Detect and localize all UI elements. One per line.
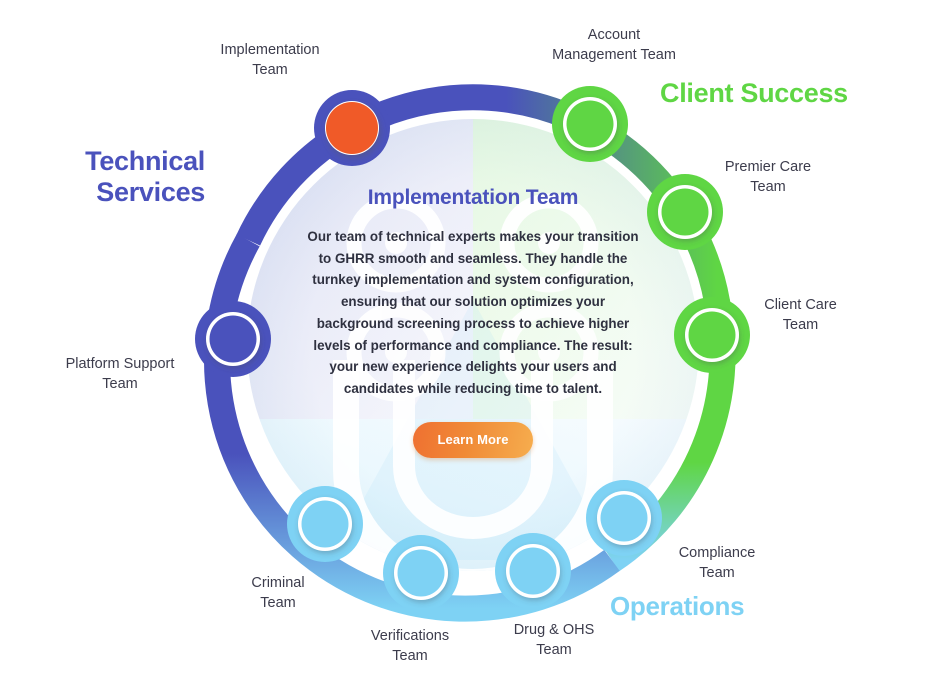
node-client-care-team[interactable] (685, 308, 739, 362)
node-label-compliance-team[interactable]: Compliance Team (650, 544, 784, 583)
node-label-drug-ohs-team[interactable]: Drug & OHS Team (487, 621, 621, 660)
centre-description: Our team of technical experts makes your… (301, 226, 645, 400)
node-label-client-care-team[interactable]: Client Care Team (733, 296, 868, 335)
node-criminal-team[interactable] (298, 497, 352, 551)
node-verifications-team[interactable] (394, 546, 448, 600)
node-label-premier-care-team[interactable]: Premier Care Team (698, 158, 838, 197)
node-platform-support-team[interactable] (206, 312, 260, 366)
centre-title: Implementation Team (280, 186, 666, 210)
node-compliance-team[interactable] (597, 491, 651, 545)
section-heading-technical-services: Technical Services (20, 146, 205, 208)
node-drug-ohs-team[interactable] (506, 544, 560, 598)
learn-more-button[interactable]: Learn More (413, 422, 532, 458)
node-label-implementation-team[interactable]: Implementation Team (200, 41, 340, 80)
node-label-account-management-team[interactable]: Account Management Team (520, 26, 708, 65)
node-account-management-team[interactable] (563, 97, 617, 151)
centre-panel: Implementation Team Our team of technica… (280, 186, 666, 458)
node-label-criminal-team[interactable]: Criminal Team (211, 574, 345, 613)
section-heading-operations: Operations (610, 592, 840, 622)
cta-wrapper: Learn More (280, 422, 666, 458)
node-label-platform-support-team[interactable]: Platform Support Team (40, 355, 200, 394)
section-heading-client-success: Client Success (660, 78, 920, 109)
node-label-verifications-team[interactable]: Verifications Team (343, 627, 477, 666)
team-wheel-infographic: Technical Services Client Success Operat… (0, 0, 950, 693)
node-implementation-team[interactable] (325, 101, 379, 155)
